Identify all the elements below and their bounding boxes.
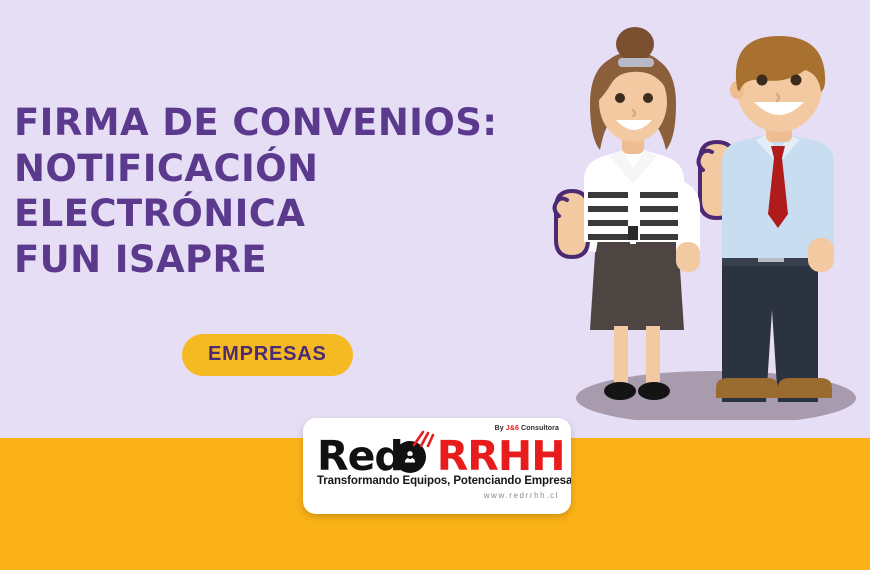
logo-wordmark: RedRRHH [317, 436, 565, 477]
two-people-illustration [540, 20, 870, 420]
brand-logo-card: By J&6 Consultora RedRRHH Transformando … [303, 418, 571, 514]
logo-word-rrhh: RRHH [437, 432, 565, 480]
page-title: FIRMA DE CONVENIOS: NOTIFICACIÓN ELECTRÓ… [14, 100, 534, 282]
logo-byline-suffix: Consultora [519, 425, 559, 432]
promo-banner: FIRMA DE CONVENIOS: NOTIFICACIÓN ELECTRÓ… [0, 0, 870, 570]
logo-word-red: Red [317, 432, 403, 480]
logo-tagline: Transformando Equipos, Potenciando Empre… [317, 475, 571, 487]
status-badge: EMPRESAS [182, 334, 353, 376]
logo-byline-prefix: By [495, 425, 506, 432]
logo-byline: By J&6 Consultora [495, 425, 559, 432]
motion-spark-icon [411, 430, 437, 447]
logo-byline-brand: J&6 [506, 425, 519, 432]
logo-website-url: www.redrrhh.cl [484, 491, 559, 500]
